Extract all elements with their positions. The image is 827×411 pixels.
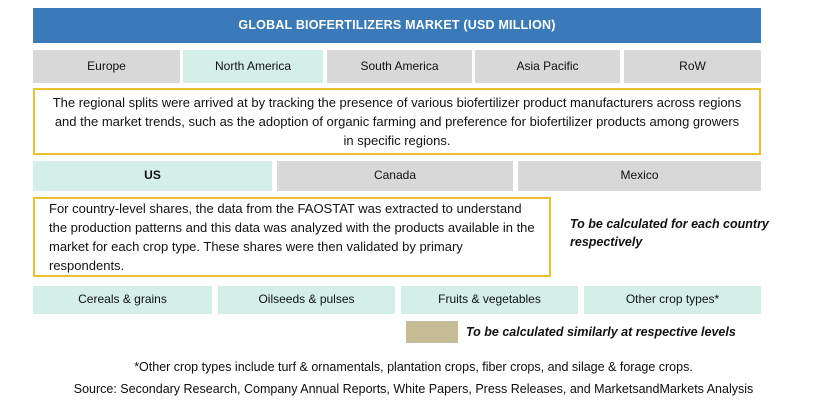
country-tab-mexico[interactable]: Mexico: [518, 161, 761, 191]
region-tab-asia-pacific[interactable]: Asia Pacific: [475, 50, 620, 83]
region-tab-row[interactable]: RoW: [624, 50, 761, 83]
region-tab-europe[interactable]: Europe: [33, 50, 180, 83]
footer-note-other-crop-types-text: *Other crop types include turf & ornamen…: [134, 360, 693, 374]
region-tab-north-america[interactable]: North America: [183, 50, 323, 83]
chart-title-text: GLOBAL BIOFERTILIZERS MARKET (USD MILLIO…: [238, 18, 555, 32]
region-tab-asia-pacific-label: Asia Pacific: [516, 60, 578, 74]
footer-source-line: Source: Secondary Research, Company Annu…: [0, 382, 827, 396]
crop-type-cereals-grains[interactable]: Cereals & grains: [33, 286, 212, 314]
country-tab-canada[interactable]: Canada: [277, 161, 513, 191]
region-tab-south-america-label: South America: [360, 60, 438, 74]
crop-type-fruits-vegetables[interactable]: Fruits & vegetables: [401, 286, 578, 314]
region-tab-europe-label: Europe: [87, 60, 126, 74]
region-methodology-note: The regional splits were arrived at by t…: [33, 88, 761, 155]
crop-type-other-label: Other crop types*: [626, 293, 719, 307]
country-tab-us-label: US: [144, 169, 161, 183]
biofertilizers-market-segmentation-diagram: GLOBAL BIOFERTILIZERS MARKET (USD MILLIO…: [0, 0, 827, 411]
region-methodology-note-text: The regional splits were arrived at by t…: [35, 93, 759, 151]
region-tab-south-america[interactable]: South America: [327, 50, 472, 83]
legend-label-text: To be calculated similarly at respective…: [466, 325, 736, 339]
footer-note-other-crop-types: *Other crop types include turf & ornamen…: [0, 360, 827, 374]
country-tab-canada-label: Canada: [374, 169, 416, 183]
country-methodology-note-text: For country-level shares, the data from …: [35, 199, 549, 276]
country-tab-mexico-label: Mexico: [620, 169, 658, 183]
country-side-note: To be calculated for each country respec…: [570, 215, 770, 251]
country-tab-us[interactable]: US: [33, 161, 272, 191]
region-tab-row-label: RoW: [679, 60, 706, 74]
crop-type-oilseeds-pulses[interactable]: Oilseeds & pulses: [218, 286, 395, 314]
crop-type-other[interactable]: Other crop types*: [584, 286, 761, 314]
legend-color-swatch: [406, 321, 458, 343]
crop-type-fruits-vegetables-label: Fruits & vegetables: [438, 293, 541, 307]
crop-type-cereals-grains-label: Cereals & grains: [78, 293, 167, 307]
region-tab-north-america-label: North America: [215, 60, 291, 74]
footer-source-text: Source: Secondary Research, Company Annu…: [74, 382, 754, 396]
chart-title-bar: GLOBAL BIOFERTILIZERS MARKET (USD MILLIO…: [33, 8, 761, 43]
country-side-note-text: To be calculated for each country respec…: [570, 217, 769, 249]
crop-type-oilseeds-pulses-label: Oilseeds & pulses: [258, 293, 354, 307]
legend-label: To be calculated similarly at respective…: [466, 325, 736, 339]
country-methodology-note: For country-level shares, the data from …: [33, 197, 551, 277]
